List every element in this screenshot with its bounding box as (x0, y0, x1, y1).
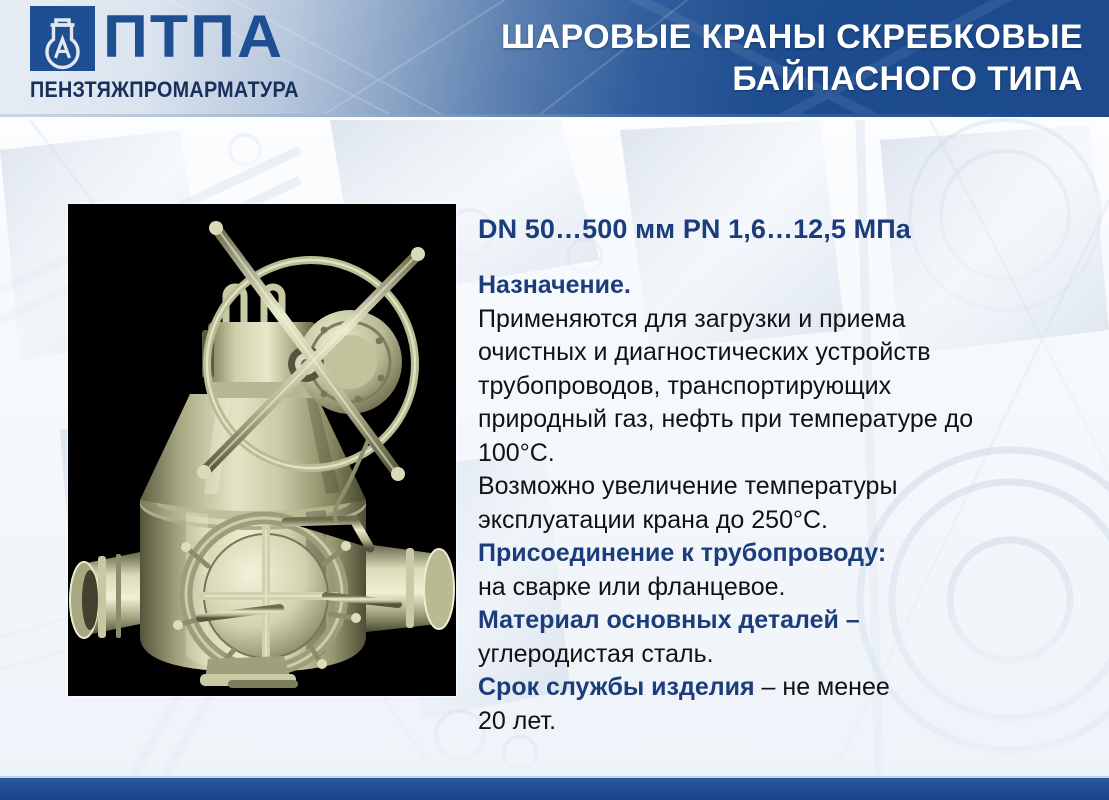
purpose-line-2: Применяются для загрузки и приема (478, 305, 906, 333)
purpose-line-8: эксплуатации крана до 250°С. (478, 506, 828, 534)
ptpa-flask-emblem-icon (30, 6, 95, 71)
purpose-lead: Назначение. (478, 271, 631, 299)
spec-heading: DN 50…500 мм PN 1,6…12,5 МПа (478, 213, 1090, 245)
purpose-line-7: Возможно увеличение температуры (478, 472, 897, 500)
slide-root: ПТПА ПЕНЗТЯЖПРОМАРМАТУРА ШАРОВЫЕ КРАНЫ С… (0, 0, 1109, 800)
footer-bar (0, 778, 1109, 800)
purpose-line-6: 100°С. (478, 439, 555, 467)
company-logo: ПТПА ПЕНЗТЯЖПРОМАРМАТУРА (30, 6, 280, 110)
logo-wordmark: ПТПА (103, 6, 284, 68)
logo-row: ПТПА (30, 6, 280, 76)
header-divider (0, 114, 1109, 117)
connection-lead: Присоединение к трубопроводу: (478, 539, 886, 567)
slide-title-line-1: ШАРОВЫЕ КРАНЫ СКРЕБКОВЫЕ (383, 16, 1083, 58)
content-column: DN 50…500 мм PN 1,6…12,5 МПа Назначение.… (478, 213, 1090, 738)
paragraph-connection: Присоединение к трубопроводу: на сварке … (478, 537, 1090, 604)
purpose-line-5: природный газ, нефть при температуре до (478, 405, 973, 433)
material-lead: Материал основных деталей – (478, 606, 860, 634)
paragraph-material: Материал основных деталей – углеродистая… (478, 604, 1090, 671)
purpose-line-4: трубопроводов, транспортирующих (478, 372, 891, 400)
purpose-line-3: очистных и диагностических устройств (478, 338, 931, 366)
paragraph-service-life: Срок службы изделия – не менее 20 лет. (478, 671, 1090, 738)
service-life-tail: – не менее (755, 673, 890, 701)
slide-title-line-2: БАЙПАСНОГО ТИПА (383, 58, 1083, 100)
slide-title: ШАРОВЫЕ КРАНЫ СКРЕБКОВЫЕ БАЙПАСНОГО ТИПА (383, 16, 1083, 100)
service-life-value: 20 лет. (478, 707, 556, 735)
service-life-lead: Срок службы изделия (478, 673, 755, 701)
paragraph-purpose: Назначение. Применяются для загрузки и п… (478, 269, 1090, 537)
product-photo (68, 204, 456, 696)
slide-header: ПТПА ПЕНЗТЯЖПРОМАРМАТУРА ШАРОВЫЕ КРАНЫ С… (0, 0, 1109, 117)
connection-value: на сварке или фланцевое. (478, 573, 786, 601)
logo-subtitle: ПЕНЗТЯЖПРОМАРМАТУРА (30, 77, 255, 102)
material-value: углеродистая сталь. (478, 640, 714, 668)
